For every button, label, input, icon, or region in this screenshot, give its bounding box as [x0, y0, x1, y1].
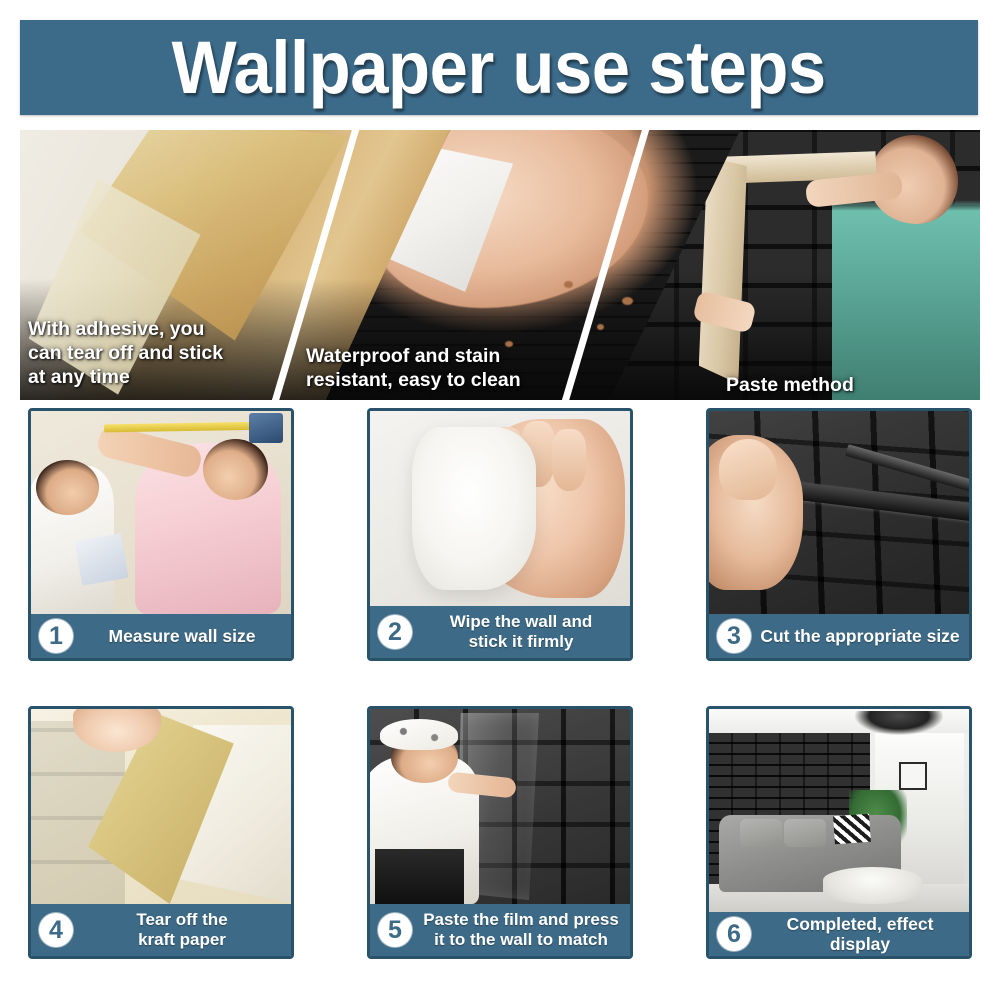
- bandana-shape: [380, 719, 458, 750]
- step-number-badge: 3: [717, 619, 751, 653]
- page-title: Wallpaper use steps: [172, 31, 826, 105]
- step-number-badge: 2: [378, 615, 412, 649]
- step-2-caption-text: Wipe the wall and stick it firmly: [418, 612, 630, 651]
- step-2-photo: [370, 411, 630, 606]
- cushion-shape: [784, 819, 826, 847]
- completed-room-photo: [709, 709, 969, 912]
- picture-frame-shape: [899, 762, 928, 790]
- tape-measure-shape: [104, 422, 271, 433]
- hero-collage: With adhesive, you can tear off and stic…: [20, 130, 980, 400]
- woman-head-shape: [36, 460, 98, 515]
- finger-shape: [552, 429, 586, 491]
- header-banner: Wallpaper use steps: [20, 20, 978, 115]
- wipe-wall-photo: [370, 411, 630, 606]
- cushion-shape: [740, 819, 782, 847]
- blade-reflection-shape: [845, 444, 969, 496]
- utility-blade-shape: [776, 480, 969, 523]
- step-3-photo: [709, 411, 969, 614]
- steps-row-bottom: 4 Tear off the kraft paper 5: [0, 706, 1000, 1000]
- tape-measure-case-shape: [249, 413, 283, 443]
- ceiling-lamp-shape: [855, 711, 943, 735]
- step-number-badge: 6: [717, 917, 751, 951]
- step-3-caption-bar: 3 Cut the appropriate size: [709, 614, 969, 658]
- step-card-4[interactable]: 4 Tear off the kraft paper: [28, 706, 294, 959]
- towel-shape: [412, 427, 537, 591]
- tear-kraft-paper-photo: [31, 709, 291, 904]
- notepad-shape: [74, 533, 128, 585]
- step-1-caption-text: Measure wall size: [79, 626, 291, 646]
- step-1-photo: [31, 411, 291, 614]
- step-card-6[interactable]: 6 Completed, effect display: [706, 706, 972, 959]
- step-4-caption-text: Tear off the kraft paper: [79, 910, 291, 949]
- steps-grid: 1 Measure wall size 2 Wipe the w: [0, 408, 1000, 1000]
- step-5-caption-bar: 5 Paste the film and press it to the wal…: [370, 904, 630, 956]
- wallpaper-steps-infographic: Wallpaper use steps: [0, 0, 1000, 1000]
- step-6-photo: [709, 709, 969, 912]
- step-5-photo: [370, 709, 630, 904]
- step-5-caption-text: Paste the film and press it to the wall …: [418, 910, 630, 949]
- step-2-caption-bar: 2 Wipe the wall and stick it firmly: [370, 606, 630, 658]
- skirt-shape: [375, 849, 463, 904]
- step-card-5[interactable]: 5 Paste the film and press it to the wal…: [367, 706, 633, 959]
- step-number-badge: 5: [378, 913, 412, 947]
- debris-speck: [564, 281, 573, 288]
- step-1-caption-bar: 1 Measure wall size: [31, 614, 291, 658]
- hero-caption-paste-method: Paste method: [726, 374, 854, 398]
- man-head-shape: [203, 439, 268, 500]
- coffee-table-shape: [823, 867, 922, 904]
- debris-speck: [597, 324, 604, 330]
- step-3-caption-text: Cut the appropriate size: [757, 626, 969, 646]
- measure-wall-photo: [31, 411, 291, 614]
- debris-speck: [622, 297, 633, 305]
- step-4-caption-bar: 4 Tear off the kraft paper: [31, 904, 291, 956]
- step-6-caption-bar: 6 Completed, effect display: [709, 912, 969, 956]
- step-card-3[interactable]: 3 Cut the appropriate size: [706, 408, 972, 661]
- thumb-shape: [719, 439, 776, 500]
- step-card-1[interactable]: 1 Measure wall size: [28, 408, 294, 661]
- steps-row-top: 1 Measure wall size 2 Wipe the w: [0, 408, 1000, 706]
- step-number-badge: 4: [39, 913, 73, 947]
- hero-caption-adhesive: With adhesive, you can tear off and stic…: [28, 318, 223, 389]
- step-card-2[interactable]: 2 Wipe the wall and stick it firmly: [367, 408, 633, 661]
- paste-film-photo: [370, 709, 630, 904]
- cut-size-photo: [709, 411, 969, 614]
- step-number-badge: 1: [39, 619, 73, 653]
- patterned-pillow-shape: [833, 813, 871, 844]
- step-4-photo: [31, 709, 291, 904]
- step-6-caption-text: Completed, effect display: [757, 914, 969, 954]
- hero-caption-waterproof: Waterproof and stain resistant, easy to …: [306, 345, 521, 393]
